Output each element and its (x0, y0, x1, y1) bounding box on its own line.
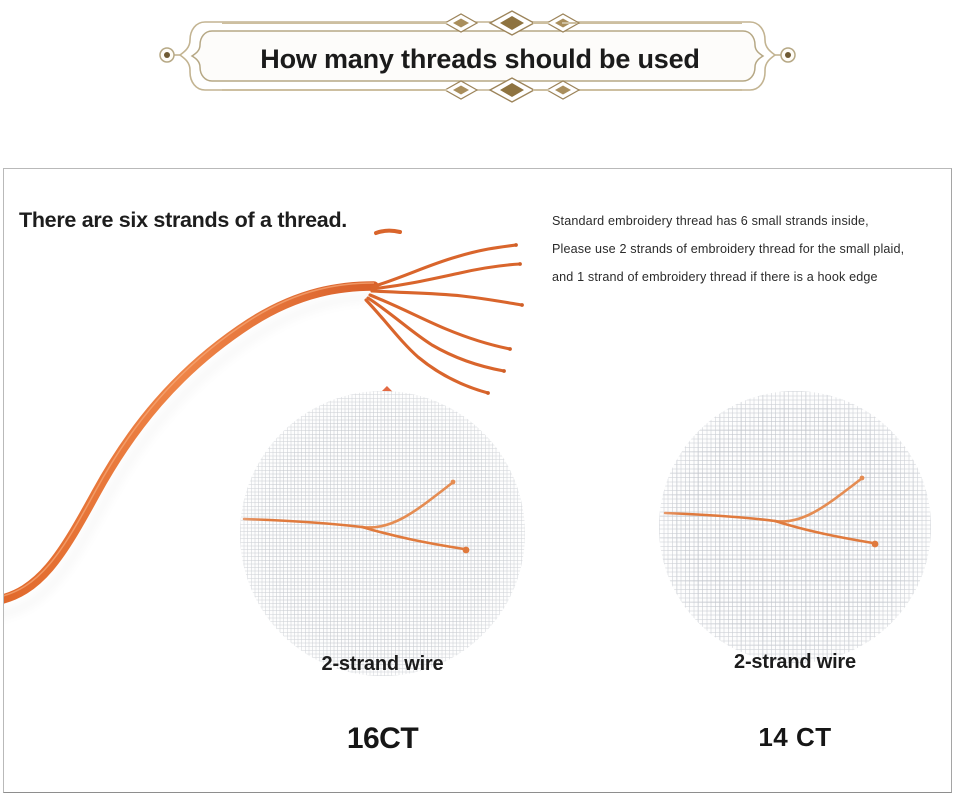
banner-endcap-left (160, 48, 180, 62)
thread-strands-fan (366, 245, 522, 393)
fabric-sample-14ct (659, 391, 931, 663)
page-title: How many threads should be used (205, 34, 755, 84)
six-strands-headline: There are six strands of a thread. (19, 208, 347, 233)
fabric-sample-16ct-strand-label: 2-strand wire (240, 653, 525, 676)
fabric-sample-14ct-strand-label: 2-strand wire (659, 651, 931, 674)
usage-instructions-line-3: and 1 strand of embroidery thread if the… (552, 263, 944, 291)
usage-instructions-line-1: Standard embroidery thread has 6 small s… (552, 207, 944, 235)
fabric-sample-16ct (240, 391, 525, 676)
banner-endcap-right (775, 48, 795, 62)
fabric-sample-16ct-count-label: 16CT (240, 722, 525, 756)
fabric-sample-14ct-thread (659, 391, 931, 663)
fabric-sample-16ct-thread (240, 391, 525, 676)
thread-fleck (376, 231, 400, 233)
header-banner: How many threads should be used (0, 0, 955, 140)
usage-instructions: Standard embroidery thread has 6 small s… (552, 207, 944, 291)
fabric-sample-14ct-count-label: 14 CT (659, 722, 931, 753)
usage-instructions-line-2: Please use 2 strands of embroidery threa… (552, 235, 944, 263)
instruction-photo-panel: There are six strands of a thread. Stand… (3, 168, 952, 793)
